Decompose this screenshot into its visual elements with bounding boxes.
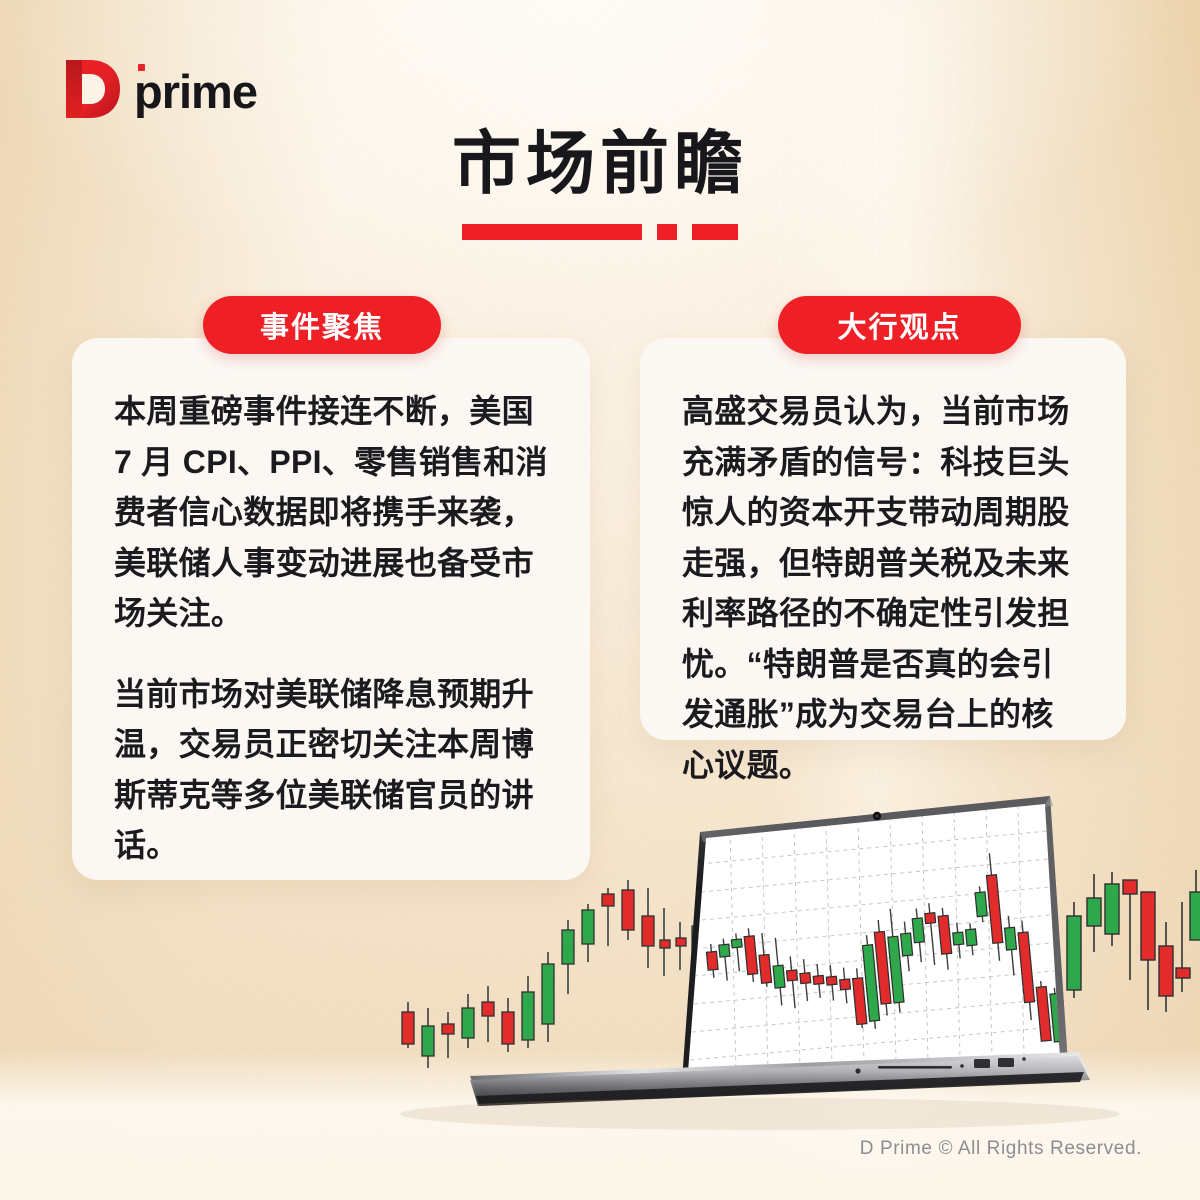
title-divider — [0, 224, 1200, 240]
candles-right-of-laptop — [1045, 870, 1200, 1038]
footer-copyright: D Prime © All Rights Reserved. — [860, 1138, 1142, 1160]
badge-event-focus: 事件聚焦 — [203, 296, 441, 354]
header: 市场前瞻 — [0, 128, 1200, 240]
badge-bank-view: 大行观点 — [778, 296, 1021, 354]
candles-left-of-laptop — [402, 880, 720, 1068]
page-title: 市场前瞻 — [0, 128, 1200, 200]
card-event-focus-paragraph-2: 当前市场对美联储降息预期升温，交易员正密切关注本周博斯蒂克等多位美联储官员的讲话… — [114, 669, 548, 871]
card-event-focus: 本周重磅事件接连不断，美国 7 月 CPI、PPI、零售销售和消费者信心数据即将… — [72, 338, 590, 880]
logo-wordmark: prime — [134, 68, 257, 115]
divider-segment-long — [462, 224, 642, 240]
card-event-focus-paragraph-1: 本周重磅事件接连不断，美国 7 月 CPI、PPI、零售销售和消费者信心数据即将… — [114, 386, 548, 639]
card-event-focus-body: 本周重磅事件接连不断，美国 7 月 CPI、PPI、零售销售和消费者信心数据即将… — [72, 338, 590, 871]
logo-i-dot-icon — [138, 64, 145, 71]
brand-logo: prime — [60, 58, 257, 120]
divider-segment-medium — [692, 224, 738, 240]
card-bank-view-body: 高盛交易员认为，当前市场充满矛盾的信号：科技巨头惊人的资本开支带动周期股走强，但… — [640, 338, 1126, 790]
card-bank-view-paragraph-1: 高盛交易员认为，当前市场充满矛盾的信号：科技巨头惊人的资本开支带动周期股走强，但… — [682, 386, 1084, 790]
d-logo-mark-icon — [60, 58, 122, 120]
divider-segment-square — [657, 224, 677, 240]
card-bank-view: 高盛交易员认为，当前市场充满矛盾的信号：科技巨头惊人的资本开支带动周期股走强，但… — [640, 338, 1126, 740]
